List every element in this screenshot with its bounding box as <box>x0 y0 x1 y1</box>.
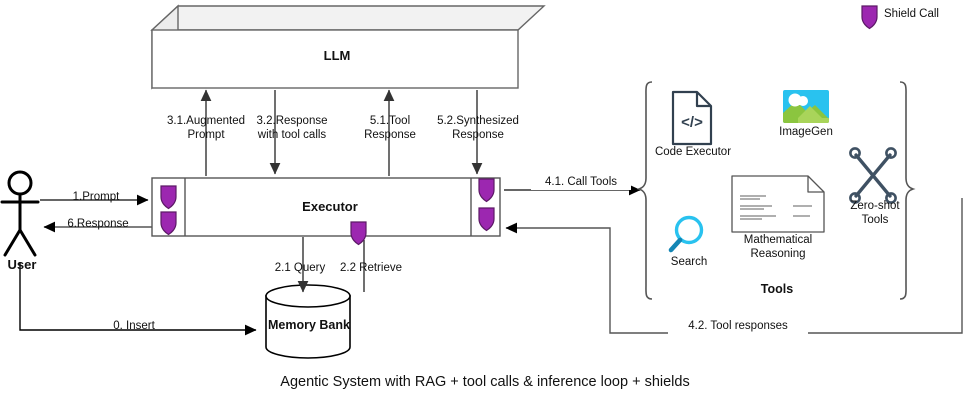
tool-label-code-executor: Code Executor <box>648 146 738 160</box>
edge-label-query: 2.1 Query <box>264 262 336 276</box>
image-icon <box>783 90 829 123</box>
edge-label-prompt: 1.Prompt <box>62 191 130 205</box>
tool-label-imagegen: ImageGen <box>768 126 844 140</box>
edge-label-insert: 0. Insert <box>97 320 171 334</box>
code-document-icon: </> <box>673 92 711 144</box>
edge-label-call-tools: 4.1. Call Tools <box>531 176 631 190</box>
edge-label-retrieve: 2.2 Retrieve <box>332 262 410 276</box>
legend-label: Shield Call <box>884 8 968 22</box>
edge-label-tool-responses: 4.2. Tool responses <box>668 320 808 334</box>
edge-label-synthesized-response: 5.2.Synthesized Response <box>424 115 532 142</box>
llm-node <box>152 6 544 88</box>
svg-text:</>: </> <box>681 114 703 131</box>
edge-label-response: 6.Response <box>58 218 138 232</box>
tool-label-search: Search <box>658 256 720 270</box>
user-node <box>2 172 38 255</box>
user-label: User <box>0 258 44 272</box>
edge-label-response-tool-calls: 3.2.Response with tool calls <box>232 115 352 142</box>
tools-brace-right <box>900 82 913 299</box>
tools-group-label: Tools <box>735 283 819 297</box>
formula-document-icon <box>732 176 824 232</box>
tool-label-zero-shot: Zero-shot Tools <box>838 200 912 227</box>
executor-label: Executor <box>275 200 385 214</box>
crossed-wrenches-icon <box>850 148 895 202</box>
tool-label-math-reasoning: Mathematical Reasoning <box>726 234 830 261</box>
llm-label: LLM <box>282 49 392 63</box>
legend-shield-icon <box>862 6 877 29</box>
diagram-canvas: </> <box>0 0 970 411</box>
magnifier-icon <box>671 218 702 251</box>
memory-bank-label: Memory Bank <box>254 319 364 333</box>
tools-brace-left <box>639 82 652 299</box>
diagram-caption: Agentic System with RAG + tool calls & i… <box>0 376 970 390</box>
